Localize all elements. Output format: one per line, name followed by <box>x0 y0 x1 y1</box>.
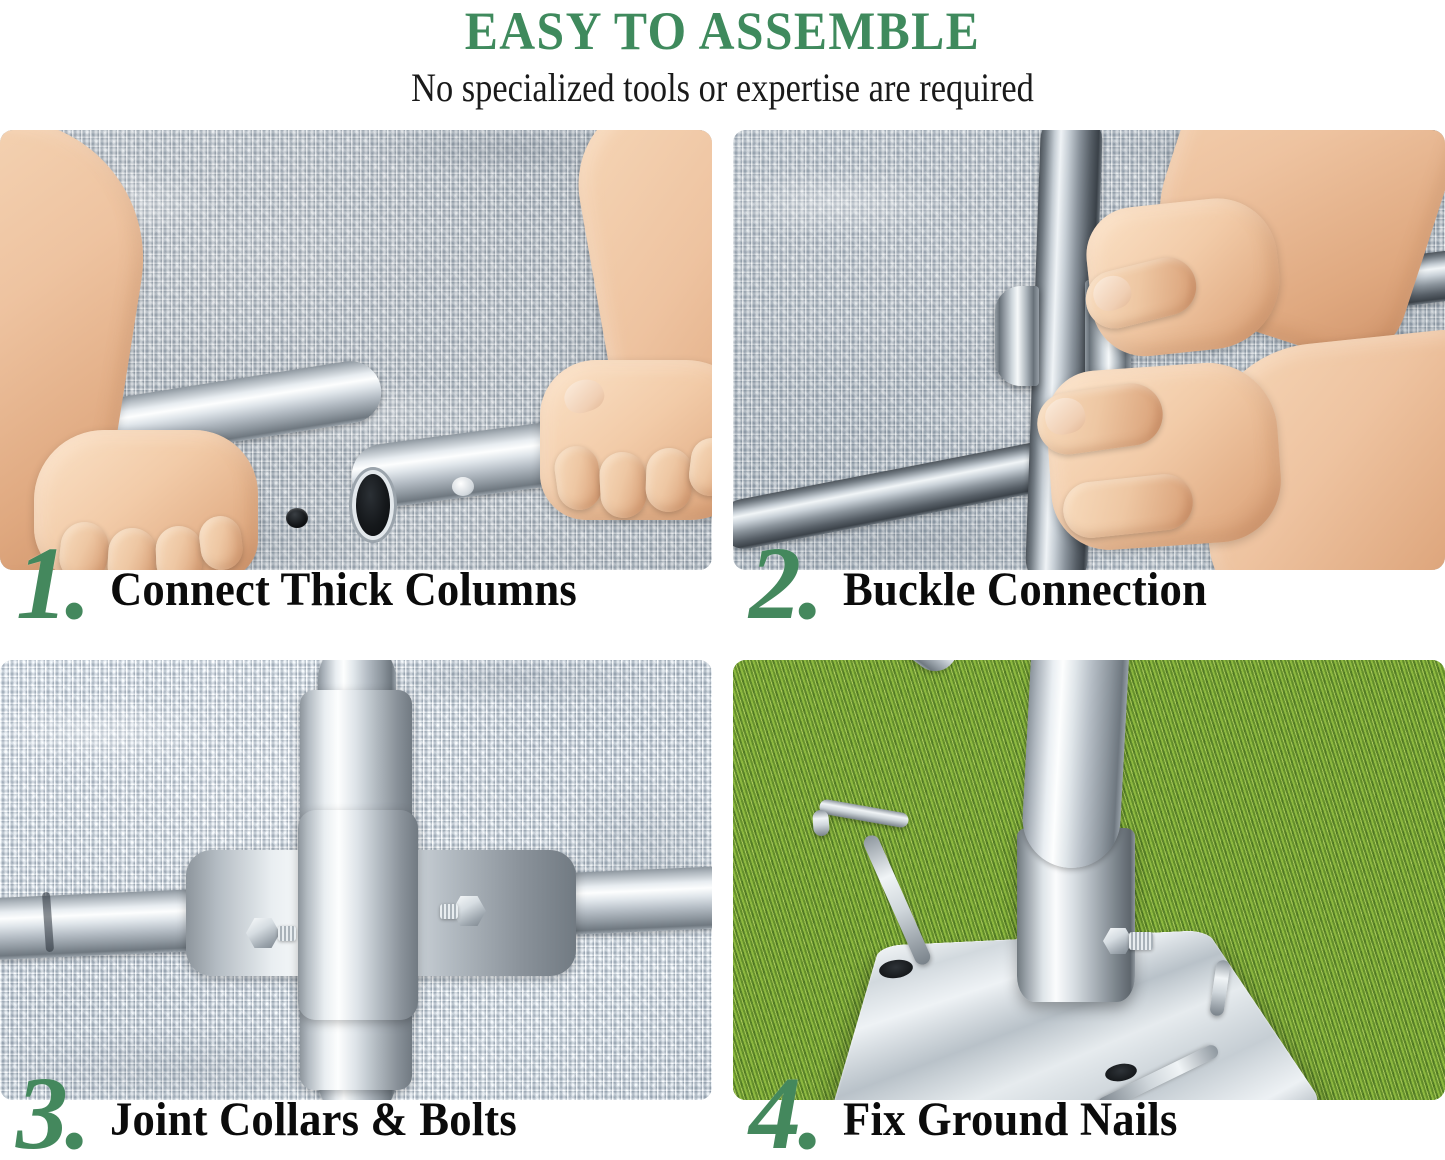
step-image-4 <box>733 660 1445 1100</box>
step-title-1: Connect Thick Columns <box>110 562 577 618</box>
step-card-1: 1. Connect Thick Columns <box>0 130 712 630</box>
pipe-open-end <box>356 474 390 536</box>
right-finger-2 <box>598 451 647 519</box>
step-number-2: 2. <box>749 538 821 630</box>
step-card-3: 3. Joint Collars & Bolts <box>0 660 712 1160</box>
hex-bolt-left-stud <box>278 926 296 941</box>
page-title: EASY TO ASSEMBLE <box>58 0 1387 60</box>
step-card-2: 2. Buckle Connection <box>733 130 1445 630</box>
infographic-page: EASY TO ASSEMBLE No specialized tools or… <box>0 0 1445 1160</box>
ground-stake-1-tip <box>812 809 830 836</box>
step-image-2 <box>733 130 1445 570</box>
main-pole <box>1020 660 1132 870</box>
step-image-3 <box>0 660 712 1100</box>
header: EASY TO ASSEMBLE No specialized tools or… <box>0 0 1445 122</box>
step-number-3: 3. <box>16 1068 88 1160</box>
step-caption-4: 4. Fix Ground Nails <box>733 1068 1445 1160</box>
step-image-1 <box>0 130 712 570</box>
step-number-1: 1. <box>16 538 88 630</box>
page-subtitle: No specialized tools or expertise are re… <box>101 60 1344 111</box>
right-finger-3 <box>645 447 693 513</box>
step-number-4: 4. <box>749 1068 821 1160</box>
joint-collar-hub <box>298 810 418 1020</box>
step-title-3: Joint Collars & Bolts <box>110 1092 517 1148</box>
step-caption-3: 3. Joint Collars & Bolts <box>0 1068 712 1160</box>
step-title-4: Fix Ground Nails <box>843 1092 1178 1148</box>
step-card-4: 4. Fix Ground Nails <box>733 660 1445 1160</box>
step-caption-2: 2. Buckle Connection <box>733 538 1445 630</box>
sleeve-bolt-stud <box>1129 932 1153 950</box>
steps-grid: 1. Connect Thick Columns <box>0 130 1445 1160</box>
pipe-hole-left <box>286 508 308 528</box>
step-caption-1: 1. Connect Thick Columns <box>0 538 712 630</box>
step-title-2: Buckle Connection <box>843 562 1207 618</box>
hex-bolt-right-stud <box>440 904 458 919</box>
pipe-hole-right <box>452 477 474 496</box>
buckle-clamp-back <box>995 286 1039 386</box>
